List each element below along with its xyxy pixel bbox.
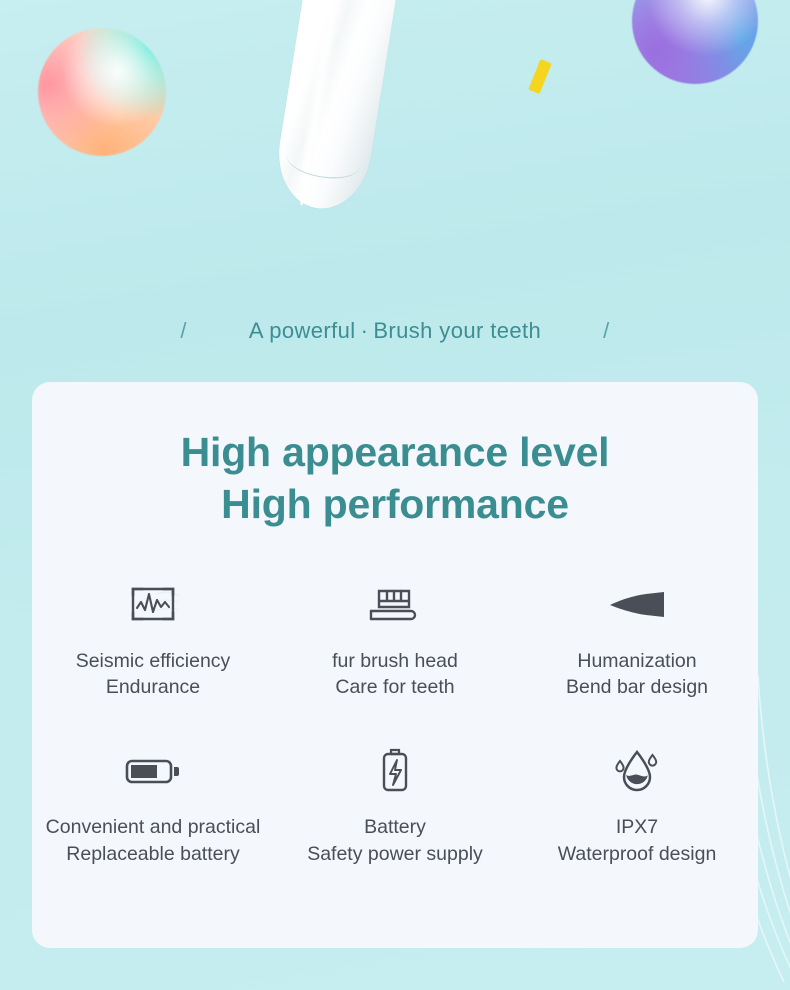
feature-label-line2: Bend bar design — [566, 674, 708, 700]
tagline-slash-right: / — [603, 318, 610, 344]
toothbrush-handle — [271, 0, 413, 215]
tagline-text-part1: A powerful — [249, 318, 356, 343]
pastel-gradient-sphere — [38, 28, 166, 156]
feature-label-line1: Humanization — [577, 650, 696, 672]
tagline: / A powerful·Brush your teeth / — [0, 318, 790, 344]
feature-label: Seismic efficiency Endurance — [76, 648, 231, 700]
seismic-waveform-icon — [127, 574, 179, 636]
feature-label-line1: IPX7 — [616, 816, 658, 838]
feature-item: Seismic efficiency Endurance — [32, 574, 274, 700]
headline-line1: High appearance level — [32, 426, 758, 478]
bend-bar-icon — [606, 574, 668, 636]
hero-decoration — [0, 0, 790, 300]
feature-card: High appearance level High performance — [32, 382, 758, 948]
feature-label: Battery Safety power supply — [307, 814, 483, 866]
feature-item: fur brush head Care for teeth — [274, 574, 516, 700]
product-feature-page: / A powerful·Brush your teeth / High app… — [0, 0, 790, 990]
handle-seam-line — [284, 146, 361, 183]
feature-item: IPX7 Waterproof design — [516, 740, 758, 866]
feature-label-line2: Safety power supply — [307, 841, 483, 867]
brush-head-icon — [365, 574, 425, 636]
tagline-separator: · — [356, 318, 374, 343]
feature-label-line2: Endurance — [76, 674, 231, 700]
feature-label-line1: Convenient and practical — [46, 816, 261, 838]
tagline-slash-left: / — [180, 318, 187, 344]
feature-item: Humanization Bend bar design — [516, 574, 758, 700]
yellow-dash-shape — [528, 59, 551, 94]
feature-label-line1: Battery — [364, 816, 426, 838]
battery-charge-icon — [378, 740, 412, 802]
page-title: High appearance level High performance — [32, 426, 758, 530]
purple-gradient-sphere — [632, 0, 758, 84]
feature-grid: Seismic efficiency Endurance — [32, 574, 758, 867]
feature-label: IPX7 Waterproof design — [558, 814, 717, 866]
battery-horizontal-icon — [124, 740, 182, 802]
feature-item: Convenient and practical Replaceable bat… — [32, 740, 274, 866]
headline-line2: High performance — [32, 478, 758, 530]
tagline-text: A powerful·Brush your teeth — [249, 318, 541, 344]
feature-label-line1: fur brush head — [332, 650, 458, 672]
feature-label: Convenient and practical Replaceable bat… — [46, 814, 261, 866]
feature-label-line1: Seismic efficiency — [76, 650, 231, 672]
feature-label-line2: Care for teeth — [332, 674, 458, 700]
feature-label-line2: Waterproof design — [558, 841, 717, 867]
feature-label: fur brush head Care for teeth — [332, 648, 458, 700]
feature-label-line2: Replaceable battery — [46, 841, 261, 867]
water-drop-icon — [614, 740, 660, 802]
feature-label: Humanization Bend bar design — [566, 648, 708, 700]
feature-item: Battery Safety power supply — [274, 740, 516, 866]
tagline-text-part2: Brush your teeth — [373, 318, 541, 343]
